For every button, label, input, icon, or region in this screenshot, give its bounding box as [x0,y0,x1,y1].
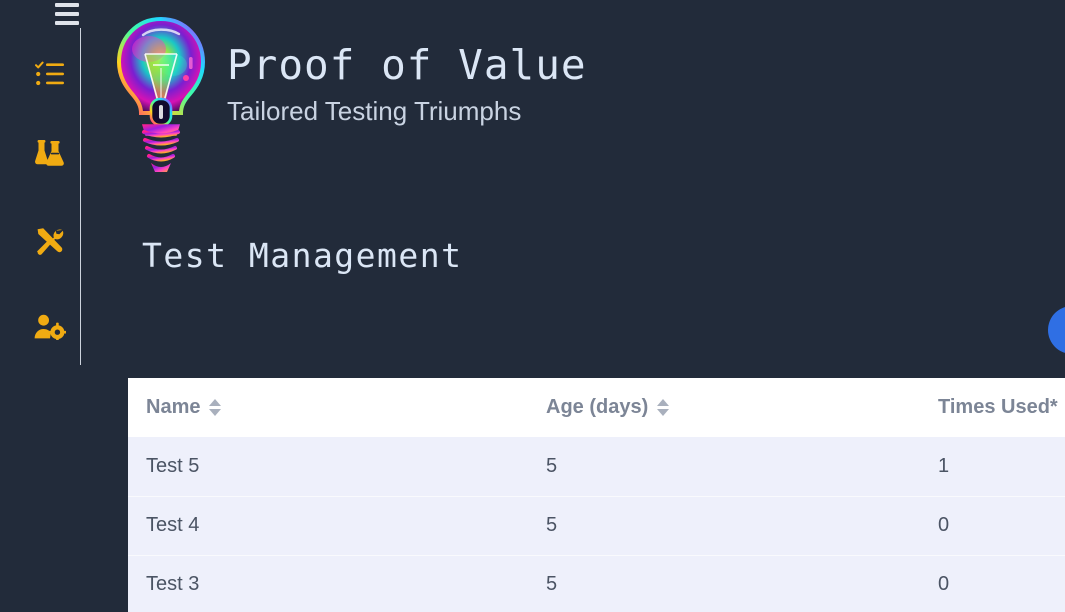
test-table: Name Age (days) [128,378,1065,612]
cell-age: 5 [528,555,920,612]
column-label-name: Name [146,396,200,419]
flasks-icon [34,140,66,168]
table-head: Name Age (days) [128,378,1065,437]
brand-text: Proof of Value Tailored Testing Triumphs [227,13,587,127]
test-table-container: Name Age (days) [128,378,1065,612]
table-body: Test 5 5 1 Test 4 5 0 Test 3 5 0 [128,437,1065,612]
hamburger-bar [55,12,79,16]
cell-name: Test 5 [128,437,528,496]
sidebar [0,0,81,612]
hamburger-bar [55,21,79,25]
cell-name: Test 3 [128,555,528,612]
tools-icon [35,227,65,257]
sidebar-item-tests-list[interactable] [33,57,67,91]
checklist-icon [35,61,65,87]
table-header-row: Name Age (days) [128,378,1065,437]
cell-times-used: 0 [920,555,1065,612]
sidebar-item-experiments[interactable] [33,137,67,171]
sidebar-item-tools[interactable] [33,225,67,259]
lightbulb-icon [107,13,215,178]
app-subtitle: Tailored Testing Triumphs [227,96,587,127]
cell-times-used: 1 [920,437,1065,496]
sidebar-divider [80,28,81,365]
hamburger-menu-icon[interactable] [55,3,79,25]
sort-icon-name[interactable] [209,399,221,416]
app-title: Proof of Value [227,44,587,87]
app-root: Proof of Value Tailored Testing Triumphs… [0,0,1065,612]
column-header-age[interactable]: Age (days) [528,378,920,437]
sort-icon-age[interactable] [657,399,669,416]
add-test-fab[interactable] [1048,306,1065,354]
hamburger-bar [55,3,79,7]
brand-header: Proof of Value Tailored Testing Triumphs [107,13,587,178]
table-row[interactable]: Test 3 5 0 [128,555,1065,612]
column-header-name[interactable]: Name [128,378,528,437]
sidebar-item-user-settings[interactable] [33,310,67,344]
page-title: Test Management [142,236,463,275]
cell-age: 5 [528,496,920,555]
column-label-age: Age (days) [546,396,648,419]
column-header-times-used[interactable]: Times Used* [920,378,1065,437]
cell-age: 5 [528,437,920,496]
user-settings-icon [34,314,66,340]
cell-name: Test 4 [128,496,528,555]
table-row[interactable]: Test 5 5 1 [128,437,1065,496]
cell-times-used: 0 [920,496,1065,555]
table-row[interactable]: Test 4 5 0 [128,496,1065,555]
column-label-times-used: Times Used* [938,396,1058,419]
